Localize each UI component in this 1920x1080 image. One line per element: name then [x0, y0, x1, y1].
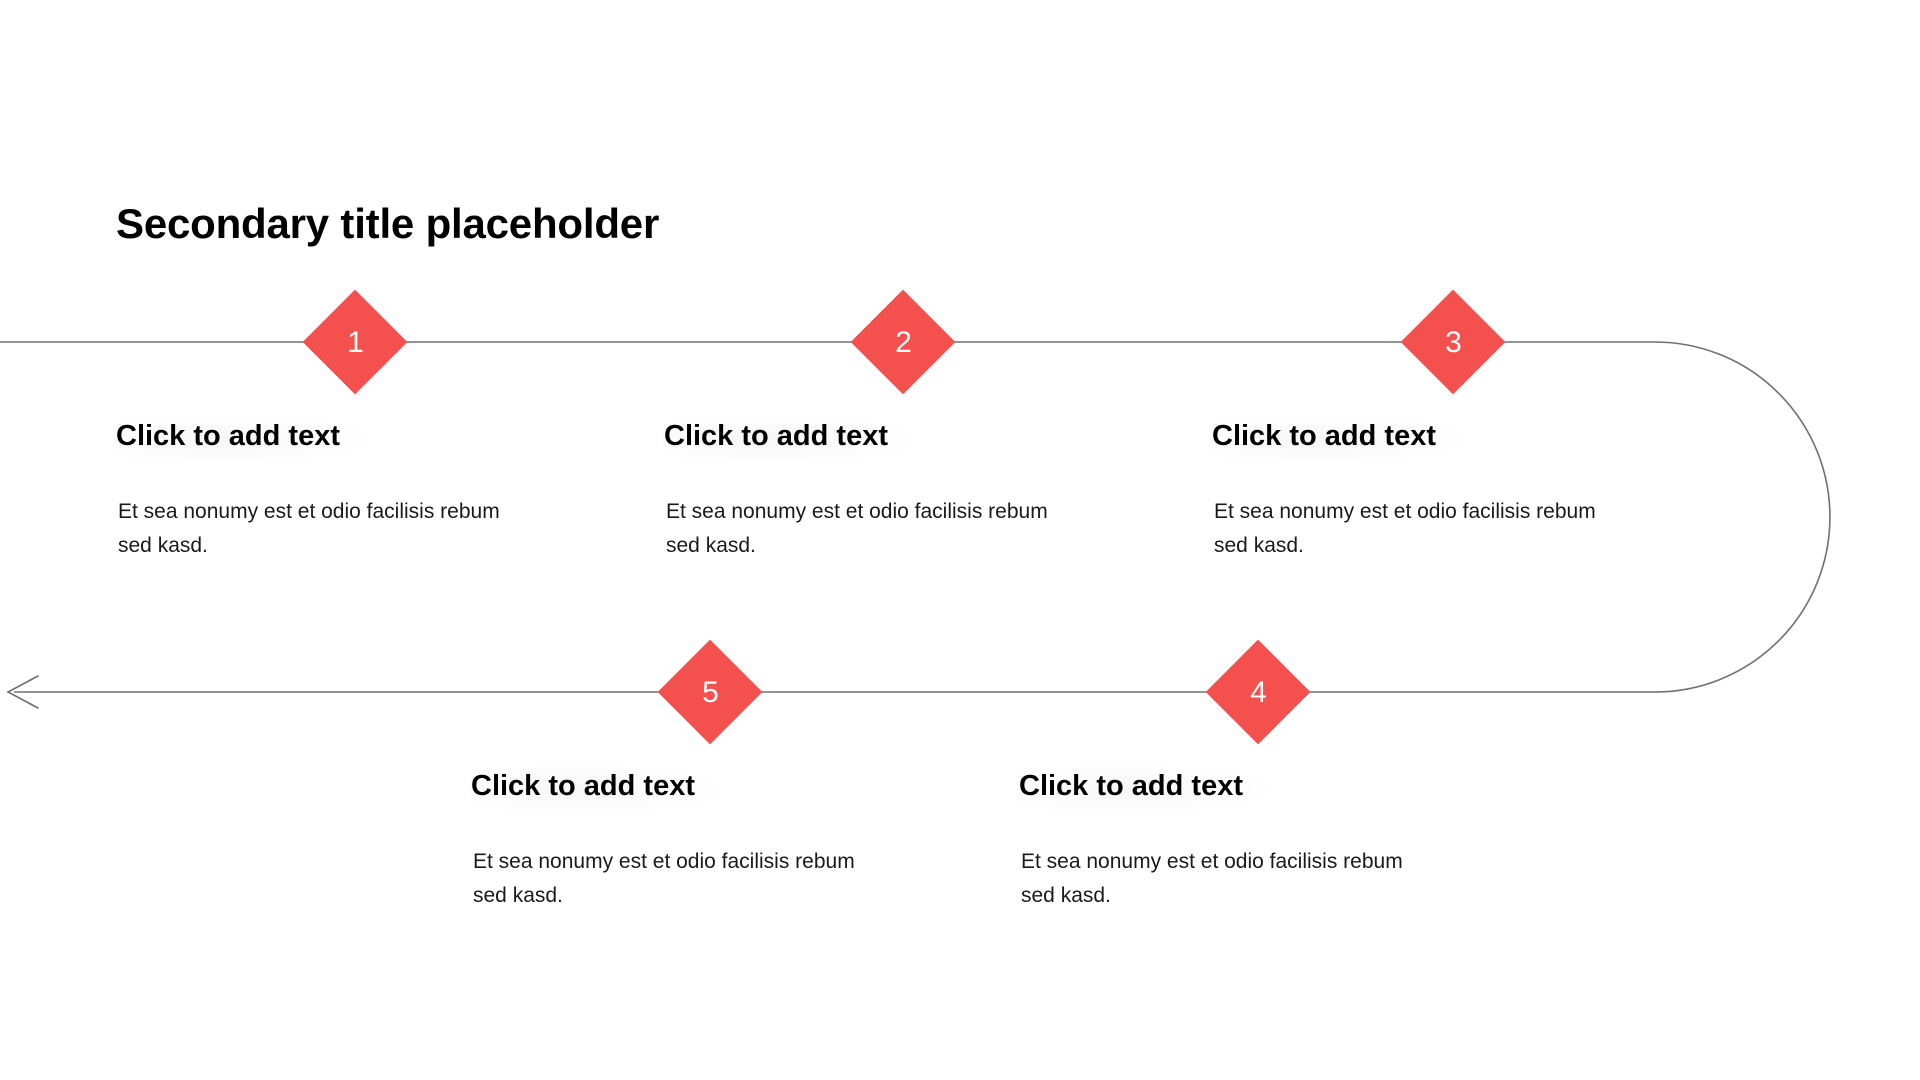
step-number-4: 4: [1206, 640, 1311, 745]
step-number-5: 5: [658, 640, 763, 745]
step-heading-5[interactable]: Click to add text: [469, 764, 729, 810]
step-number-3: 3: [1401, 290, 1506, 395]
step-heading-1[interactable]: Click to add text: [114, 414, 374, 460]
step-marker-2[interactable]: 2: [851, 290, 956, 395]
step-body-4[interactable]: Et sea nonumy est et odio facilisis rebu…: [1021, 845, 1421, 913]
step-heading-3[interactable]: Click to add text: [1210, 414, 1470, 460]
step-body-5[interactable]: Et sea nonumy est et odio facilisis rebu…: [473, 845, 873, 913]
step-heading-4[interactable]: Click to add text: [1017, 764, 1277, 810]
page-title: Secondary title placeholder: [116, 198, 659, 250]
step-heading-2[interactable]: Click to add text: [662, 414, 922, 460]
step-marker-4[interactable]: 4: [1206, 640, 1311, 745]
step-number-1: 1: [303, 290, 408, 395]
step-marker-5[interactable]: 5: [658, 640, 763, 745]
step-body-3[interactable]: Et sea nonumy est et odio facilisis rebu…: [1214, 495, 1614, 563]
step-marker-3[interactable]: 3: [1401, 290, 1506, 395]
connector-right-curve: [1655, 342, 1830, 692]
step-body-1[interactable]: Et sea nonumy est et odio facilisis rebu…: [118, 495, 518, 563]
connector-arrow-head-icon: [8, 676, 38, 708]
slide-canvas: Secondary title placeholder 1 2 3 4 5 Cl…: [0, 0, 1920, 1080]
step-number-2: 2: [851, 290, 956, 395]
step-marker-1[interactable]: 1: [303, 290, 408, 395]
step-body-2[interactable]: Et sea nonumy est et odio facilisis rebu…: [666, 495, 1066, 563]
